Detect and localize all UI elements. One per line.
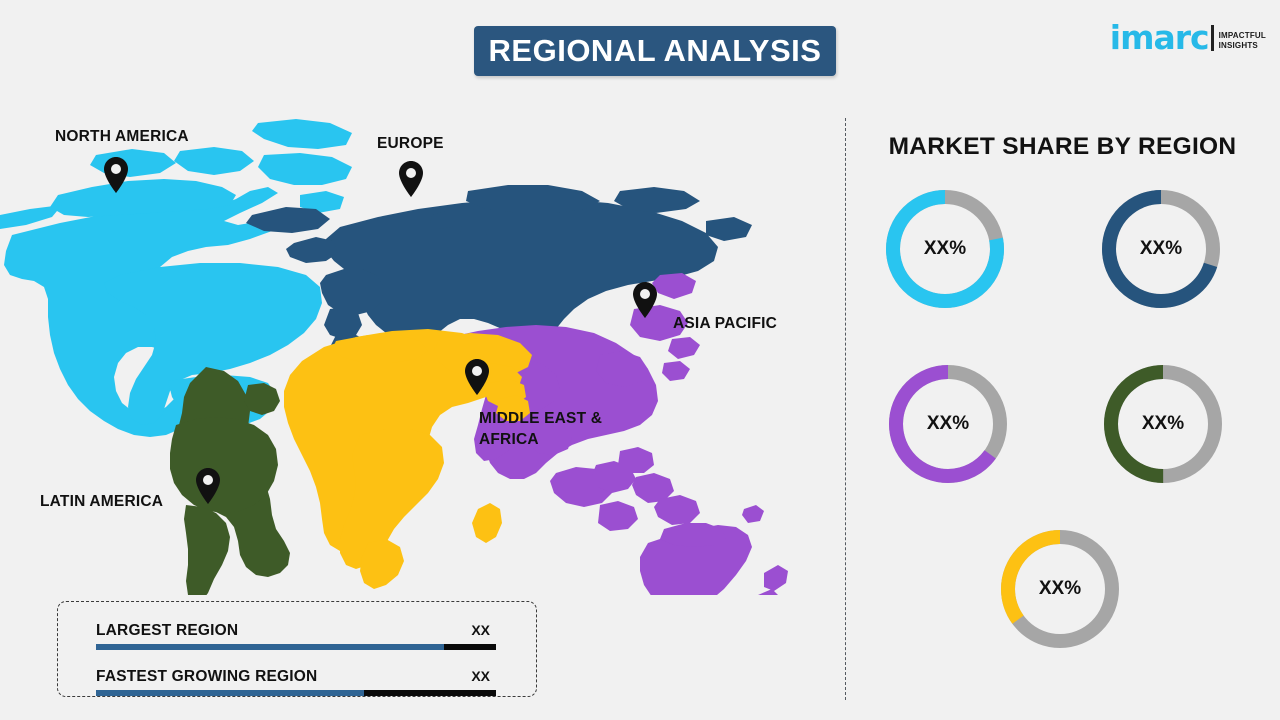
legend-row-fastest-growing-region: FASTEST GROWING REGION XX [96, 668, 496, 696]
legend-label-fastest-growing-region: FASTEST GROWING REGION [96, 668, 317, 686]
legend-row-largest-region: LARGEST REGION XX [96, 622, 496, 650]
panel-divider [845, 118, 846, 700]
donut-chart-middle-east-africa: XX% [997, 526, 1123, 652]
donut-value-middle-east-africa: XX% [997, 526, 1123, 652]
regional-analysis-infographic: REGIONAL ANALYSIS imarc IMPACTFUL INSIGH… [0, 0, 1280, 720]
logo-divider-icon [1211, 25, 1214, 51]
region-label-middle-east-africa: MIDDLE EAST & AFRICA [479, 408, 619, 450]
map-region-latin-america [170, 367, 290, 595]
donut-chart-asia-pacific: XX% [885, 361, 1011, 487]
donut-value-north-america: XX% [882, 186, 1008, 312]
map-pin-north-america-icon [104, 157, 128, 193]
donut-chart-latin-america: XX% [1100, 361, 1226, 487]
logo-wordmark: imarc [1110, 21, 1209, 54]
legend-label-largest-region: LARGEST REGION [96, 622, 238, 640]
donut-chart-europe: XX% [1098, 186, 1224, 312]
imarc-logo: imarc IMPACTFUL INSIGHTS [1110, 12, 1266, 54]
donut-chart-north-america: XX% [882, 186, 1008, 312]
legend-value-largest-region: XX [471, 622, 496, 638]
legend-fill-fastest-growing-region [96, 690, 364, 696]
legend-track-fastest-growing-region [96, 690, 496, 696]
legend-value-fastest-growing-region: XX [471, 668, 496, 684]
map-pin-asia-pacific-icon [633, 282, 657, 318]
page-title: REGIONAL ANALYSIS [489, 33, 822, 69]
donut-value-europe: XX% [1098, 186, 1224, 312]
world-map-region [0, 95, 830, 595]
logo-tagline: IMPACTFUL INSIGHTS [1219, 31, 1266, 51]
legend-fill-largest-region [96, 644, 444, 650]
legend-track-largest-region [96, 644, 496, 650]
logo-tagline-line-1: IMPACTFUL [1219, 31, 1266, 41]
page-title-banner: REGIONAL ANALYSIS [474, 26, 836, 76]
map-pin-middle-east-africa-icon [465, 359, 489, 395]
region-label-asia-pacific: ASIA PACIFIC [673, 313, 777, 334]
region-label-north-america: NORTH AMERICA [55, 126, 189, 147]
donut-value-latin-america: XX% [1100, 361, 1226, 487]
charts-panel-title: MARKET SHARE BY REGION [845, 133, 1280, 161]
map-pin-europe-icon [399, 161, 423, 197]
region-summary-box: LARGEST REGION XX FASTEST GROWING REGION… [57, 601, 537, 697]
map-pin-latin-america-icon [196, 468, 220, 504]
region-label-europe: EUROPE [377, 133, 444, 154]
logo-tagline-line-2: INSIGHTS [1219, 41, 1266, 51]
region-label-latin-america: LATIN AMERICA [40, 491, 163, 512]
donut-value-asia-pacific: XX% [885, 361, 1011, 487]
